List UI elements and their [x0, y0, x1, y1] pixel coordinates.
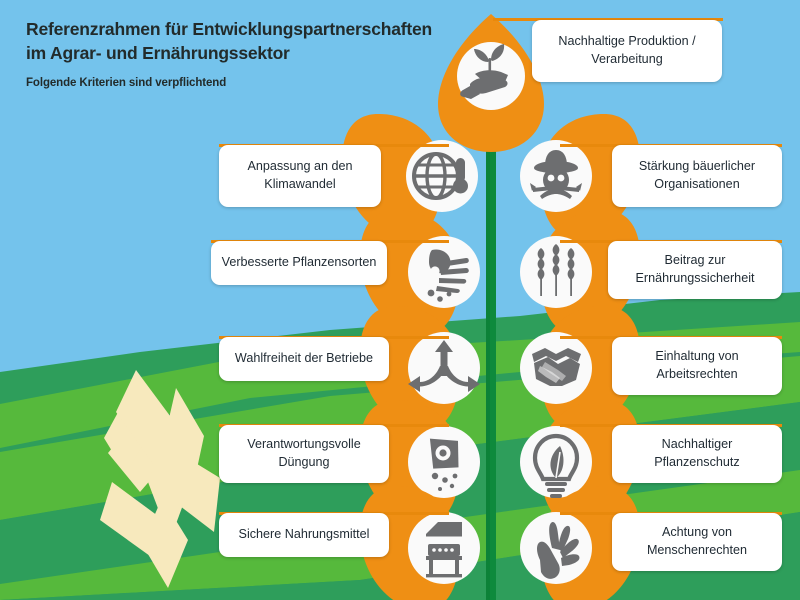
card-left-3-label: Wahlfreiheit der Betriebe: [235, 350, 373, 368]
card-left-4-label: Verantwortungsvolle Düngung: [229, 436, 379, 472]
card-left-4[interactable]: Verantwortungsvolle Düngung: [219, 425, 389, 483]
card-left-2-label: Verbesserte Pflanzensorten: [222, 254, 377, 272]
handshake-icon: [530, 348, 582, 388]
card-top-label: Nachhaltige Produktion / Verarbeitung: [542, 33, 712, 69]
page-title-line1: Referenzrahmen für Entwicklungspartnersc…: [26, 19, 432, 39]
card-right-3[interactable]: Einhaltung von Arbeitsrechten: [612, 337, 782, 395]
header-block: Referenzrahmen für Entwicklungspartnersc…: [26, 18, 456, 89]
card-left-5-label: Sichere Nahrungsmittel: [239, 526, 370, 544]
card-right-4[interactable]: Nachhaltiger Pflanzenschutz: [612, 425, 782, 483]
card-right-4-label: Nachhaltiger Pflanzenschutz: [622, 436, 772, 472]
card-left-5[interactable]: Sichere Nahrungsmittel: [219, 513, 389, 557]
card-right-1-label: Stärkung bäuerlicher Organisationen: [622, 158, 772, 194]
card-left-1-label: Anpassung an den Klimawandel: [229, 158, 371, 194]
page-title: Referenzrahmen für Entwicklungspartnersc…: [26, 18, 456, 65]
card-right-2[interactable]: Beitrag zur Ernährungssicherheit: [608, 241, 782, 299]
card-right-5[interactable]: Achtung von Menschenrechten: [612, 513, 782, 571]
card-left-2[interactable]: Verbesserte Pflanzensorten: [211, 241, 387, 285]
plant-diagram: [0, 0, 800, 600]
card-left-1[interactable]: Anpassung an den Klimawandel: [219, 145, 381, 207]
globe-thermometer-icon: [414, 154, 468, 198]
plant-stem-shadow: [486, 96, 490, 600]
card-right-1[interactable]: Stärkung bäuerlicher Organisationen: [612, 145, 782, 207]
infographic-canvas: Referenzrahmen für Entwicklungspartnersc…: [0, 0, 800, 600]
page-subtitle: Folgende Kriterien sind verpflichtend: [26, 77, 456, 89]
page-title-line2: im Agrar- und Ernährungssektor: [26, 43, 290, 63]
card-left-3[interactable]: Wahlfreiheit der Betriebe: [219, 337, 389, 381]
card-right-2-label: Beitrag zur Ernährungssicherheit: [618, 252, 772, 288]
card-top[interactable]: Nachhaltige Produktion / Verarbeitung: [532, 20, 722, 82]
card-right-3-label: Einhaltung von Arbeitsrechten: [622, 348, 772, 384]
card-right-5-label: Achtung von Menschenrechten: [622, 524, 772, 560]
